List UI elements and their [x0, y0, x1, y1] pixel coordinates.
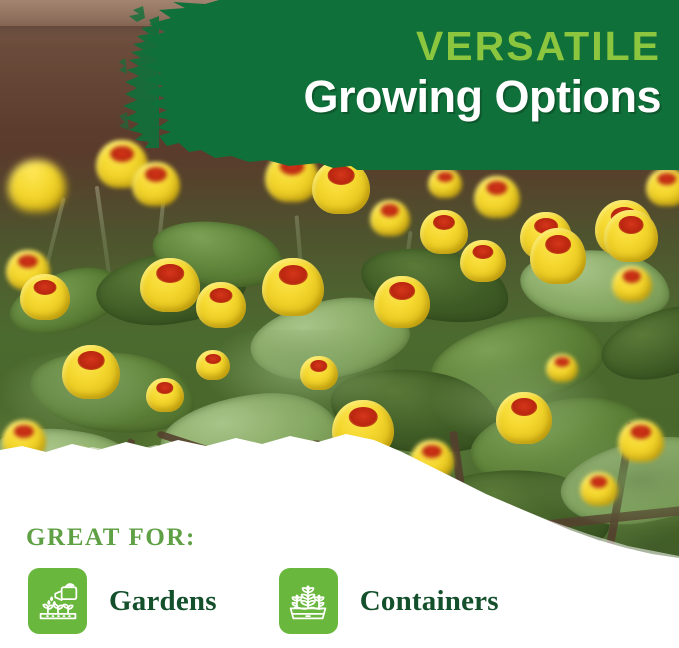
watering-can-seedlings-icon [36, 579, 80, 623]
flower-bud [612, 266, 652, 302]
flower-bud [8, 160, 66, 212]
flower-bud [374, 276, 430, 328]
flower-bud [300, 356, 338, 390]
feature-list: Gardens [28, 568, 499, 634]
flower-bud [604, 210, 658, 262]
banner-text-block: VERSATILE Growing Options [304, 26, 661, 120]
feature-containers[interactable]: Containers [279, 568, 499, 634]
green-headline-banner: VERSATILE Growing Options [119, 0, 679, 170]
flower-bud [62, 345, 120, 399]
flower-bud [420, 210, 468, 254]
flower-bud [196, 282, 246, 328]
feature-label-gardens: Gardens [109, 585, 217, 618]
flower-bud [262, 258, 324, 316]
flower-bud [474, 176, 520, 218]
flower-bud [140, 258, 200, 312]
headline-versatile: VERSATILE [304, 26, 661, 67]
feature-label-containers: Containers [360, 585, 499, 618]
containers-icon-tile [279, 568, 338, 634]
product-infographic: VERSATILE Growing Options GREAT FOR: [0, 0, 679, 648]
planter-box-plants-icon [286, 579, 330, 623]
flower-bud [428, 168, 462, 198]
flower-bud [460, 240, 506, 282]
flower-bud [546, 354, 578, 382]
gardens-icon-tile [28, 568, 87, 634]
feature-gardens[interactable]: Gardens [28, 568, 217, 634]
flower-bud [530, 228, 586, 284]
great-for-label: GREAT FOR: [26, 524, 196, 552]
flower-bud [20, 274, 70, 320]
headline-growing-options: Growing Options [304, 73, 661, 120]
flower-bud [146, 378, 184, 412]
flower-bud [370, 200, 410, 236]
flower-bud [196, 350, 230, 380]
flower-bud [646, 168, 679, 206]
